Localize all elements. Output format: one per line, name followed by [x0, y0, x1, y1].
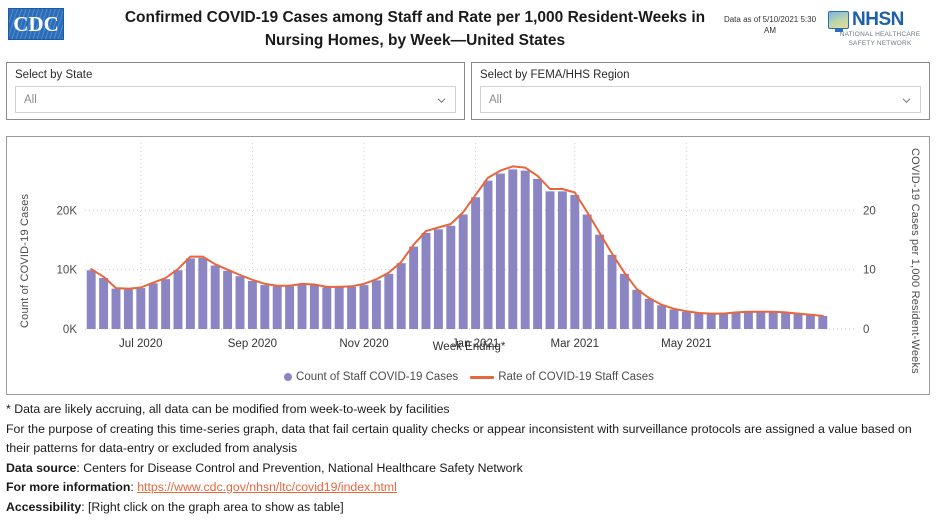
y-axis-label: Count of COVID-19 Cases: [19, 171, 35, 351]
bar[interactable]: [781, 313, 790, 329]
bar[interactable]: [645, 299, 654, 329]
svg-text:20: 20: [863, 205, 876, 217]
bar[interactable]: [422, 233, 431, 329]
more-info-label: For more information: [6, 480, 130, 494]
bar[interactable]: [198, 258, 207, 329]
y2-axis-ticks: 01020: [863, 205, 876, 336]
bar[interactable]: [384, 274, 393, 329]
bar[interactable]: [161, 279, 170, 329]
legend-line-swatch-icon: [470, 376, 494, 379]
bar[interactable]: [372, 280, 381, 329]
bar[interactable]: [360, 285, 369, 329]
state-select-value: All: [24, 94, 37, 106]
nhsn-logo: NHSN NATIONAL HEALTHCARE SAFETY NETWORK: [828, 10, 932, 50]
legend-item-line[interactable]: Rate of COVID-19 Staff Cases: [470, 371, 654, 383]
accessibility-label: Accessibility: [6, 500, 81, 514]
x-axis-label: Week Ending*: [7, 341, 931, 353]
cdc-logo-text: CDC: [13, 14, 59, 35]
chevron-down-icon[interactable]: [902, 96, 911, 105]
page-header: CDC Confirmed COVID-19 Cases among Staff…: [0, 0, 936, 60]
chart-panel[interactable]: Count of COVID-19 Cases COVID-19 Cases p…: [6, 136, 930, 395]
bar[interactable]: [546, 191, 555, 329]
data-source-label: Data source: [6, 461, 76, 475]
data-source-value: : Centers for Disease Control and Preven…: [76, 461, 522, 475]
svg-text:10K: 10K: [57, 265, 78, 277]
bar[interactable]: [236, 276, 245, 329]
bar[interactable]: [335, 287, 344, 329]
data-as-of-timestamp: Data as of 5/10/2021 5:30 AM: [722, 14, 818, 36]
cdc-logo: CDC: [8, 8, 64, 40]
nhsn-monitor-icon: [828, 11, 849, 29]
accessibility-value: : [Right click on the graph area to show…: [81, 500, 343, 514]
bar[interactable]: [273, 286, 282, 329]
nhsn-logo-text: NHSN: [852, 10, 904, 29]
region-select-value: All: [489, 94, 502, 106]
bar[interactable]: [570, 195, 579, 329]
bar[interactable]: [409, 247, 418, 329]
bar[interactable]: [174, 270, 183, 329]
footnote-data-source: Data source: Centers for Disease Control…: [6, 459, 930, 479]
footnotes: * Data are likely accruing, all data can…: [6, 400, 930, 517]
bar[interactable]: [112, 289, 121, 329]
bar[interactable]: [670, 309, 679, 329]
region-filter-label: Select by FEMA/HHS Region: [480, 68, 921, 83]
bar[interactable]: [521, 171, 530, 329]
svg-text:10: 10: [863, 265, 876, 277]
bar[interactable]: [496, 174, 505, 329]
cdc-nhsn-link[interactable]: https://www.cdc.gov/nhsn/ltc/covid19/ind…: [137, 480, 397, 494]
bar[interactable]: [719, 314, 728, 329]
bar[interactable]: [310, 285, 319, 329]
bar[interactable]: [434, 229, 443, 329]
page-title: Confirmed COVID-19 Cases among Staff and…: [120, 6, 710, 52]
bar[interactable]: [223, 271, 232, 329]
bar[interactable]: [608, 255, 617, 329]
plot-area[interactable]: 0K10K20K 01020 Jul 2020Sep 2020Nov 2020J…: [37, 139, 895, 394]
bar[interactable]: [533, 179, 542, 329]
bar[interactable]: [558, 191, 567, 329]
bar[interactable]: [620, 274, 629, 329]
bar[interactable]: [595, 235, 604, 329]
bar[interactable]: [87, 270, 96, 329]
bar[interactable]: [818, 316, 827, 329]
filter-bar: Select by State All Select by FEMA/HHS R…: [0, 62, 936, 124]
bar[interactable]: [657, 305, 666, 329]
svg-text:0: 0: [863, 324, 869, 336]
bar[interactable]: [347, 287, 356, 329]
legend-line-label: Rate of COVID-19 Staff Cases: [498, 371, 654, 383]
chevron-down-icon[interactable]: [437, 96, 446, 105]
region-select[interactable]: All: [480, 86, 921, 113]
bar[interactable]: [248, 281, 257, 329]
bar[interactable]: [508, 169, 517, 329]
bar-series[interactable]: [87, 169, 828, 329]
bar[interactable]: [583, 214, 592, 329]
bar[interactable]: [632, 290, 641, 329]
bar[interactable]: [794, 314, 803, 329]
footnote-accessibility: Accessibility: [Right click on the graph…: [6, 498, 930, 518]
bar[interactable]: [744, 312, 753, 329]
bar[interactable]: [397, 263, 406, 329]
svg-text:0K: 0K: [63, 324, 77, 336]
bar[interactable]: [298, 285, 307, 330]
footnote-accrual: * Data are likely accruing, all data can…: [6, 400, 930, 420]
bar[interactable]: [459, 214, 468, 329]
bar[interactable]: [99, 278, 108, 329]
legend-bar-swatch-icon: [284, 373, 292, 381]
legend-item-bar[interactable]: Count of Staff COVID-19 Cases: [284, 371, 458, 383]
bar[interactable]: [694, 314, 703, 329]
bar[interactable]: [756, 312, 765, 329]
bar[interactable]: [732, 313, 741, 329]
bar[interactable]: [260, 285, 269, 329]
bar[interactable]: [186, 258, 195, 329]
bar[interactable]: [446, 226, 455, 329]
nhsn-logo-subtitle: NATIONAL HEALTHCARE SAFETY NETWORK: [828, 30, 932, 48]
state-filter-label: Select by State: [15, 68, 456, 83]
chart-legend: Count of Staff COVID-19 Cases Rate of CO…: [7, 371, 931, 383]
state-filter: Select by State All: [6, 62, 465, 120]
chart-svg[interactable]: 0K10K20K 01020 Jul 2020Sep 2020Nov 2020J…: [37, 139, 895, 394]
svg-text:20K: 20K: [57, 205, 78, 217]
footnote-methodology: For the purpose of creating this time-se…: [6, 420, 930, 459]
bar[interactable]: [471, 197, 480, 329]
y-axis-ticks: 0K10K20K: [57, 205, 78, 336]
footnote-more-information: For more information: https://www.cdc.go…: [6, 478, 930, 498]
bar[interactable]: [682, 312, 691, 329]
bar[interactable]: [124, 289, 133, 329]
region-filter: Select by FEMA/HHS Region All: [471, 62, 930, 120]
bar[interactable]: [285, 286, 294, 329]
bar[interactable]: [806, 315, 815, 329]
legend-bar-label: Count of Staff COVID-19 Cases: [296, 371, 458, 383]
bar[interactable]: [484, 181, 493, 329]
bar[interactable]: [322, 287, 331, 329]
bar[interactable]: [149, 283, 158, 329]
bar[interactable]: [769, 312, 778, 329]
state-select[interactable]: All: [15, 86, 456, 113]
bar[interactable]: [136, 288, 145, 329]
bar[interactable]: [707, 314, 716, 329]
bar[interactable]: [211, 266, 220, 329]
